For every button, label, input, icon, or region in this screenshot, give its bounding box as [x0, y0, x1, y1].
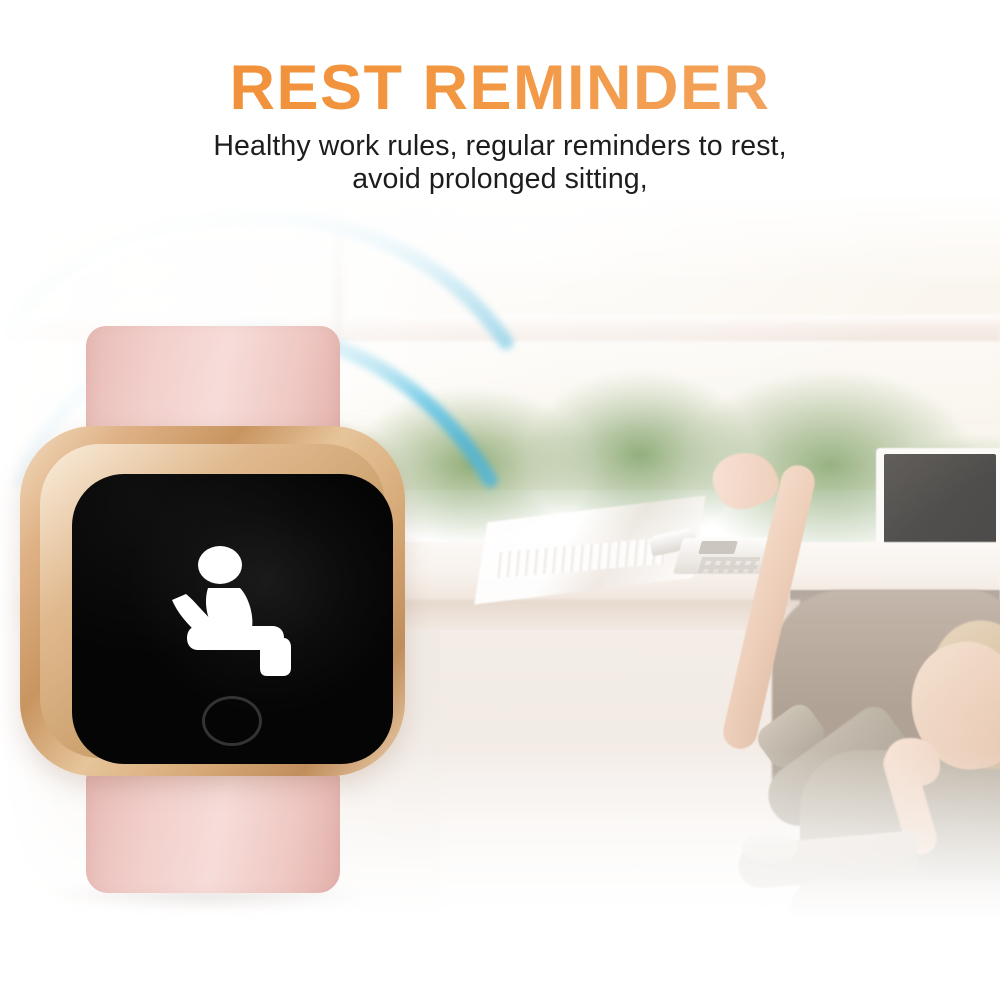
watch-home-button[interactable]	[202, 696, 262, 746]
headline-block: REST REMINDER Healthy work rules, regula…	[0, 0, 1000, 215]
woman-hand-behind-head	[886, 738, 940, 786]
telephone-keypad	[698, 557, 761, 573]
product-marketing-banner: REST REMINDER Healthy work rules, regula…	[0, 0, 1000, 1000]
page-subtitle: Healthy work rules, regular reminders to…	[0, 130, 1000, 196]
office-chair-armrest-pad	[742, 833, 798, 863]
page-subtitle-line-1: Healthy work rules, regular reminders to…	[0, 130, 1000, 163]
watch-screen[interactable]	[72, 474, 393, 764]
sedentary-sitting-person-icon	[168, 544, 298, 679]
office-chair-seat	[790, 880, 1000, 930]
smartwatch	[8, 318, 408, 898]
page-subtitle-line-2: avoid prolonged sitting,	[0, 163, 1000, 196]
watch-strap-bottom	[86, 773, 340, 893]
watch-case	[20, 426, 405, 776]
watch-bezel	[40, 444, 385, 758]
telephone-display	[698, 541, 738, 554]
page-title: REST REMINDER	[0, 56, 1000, 120]
